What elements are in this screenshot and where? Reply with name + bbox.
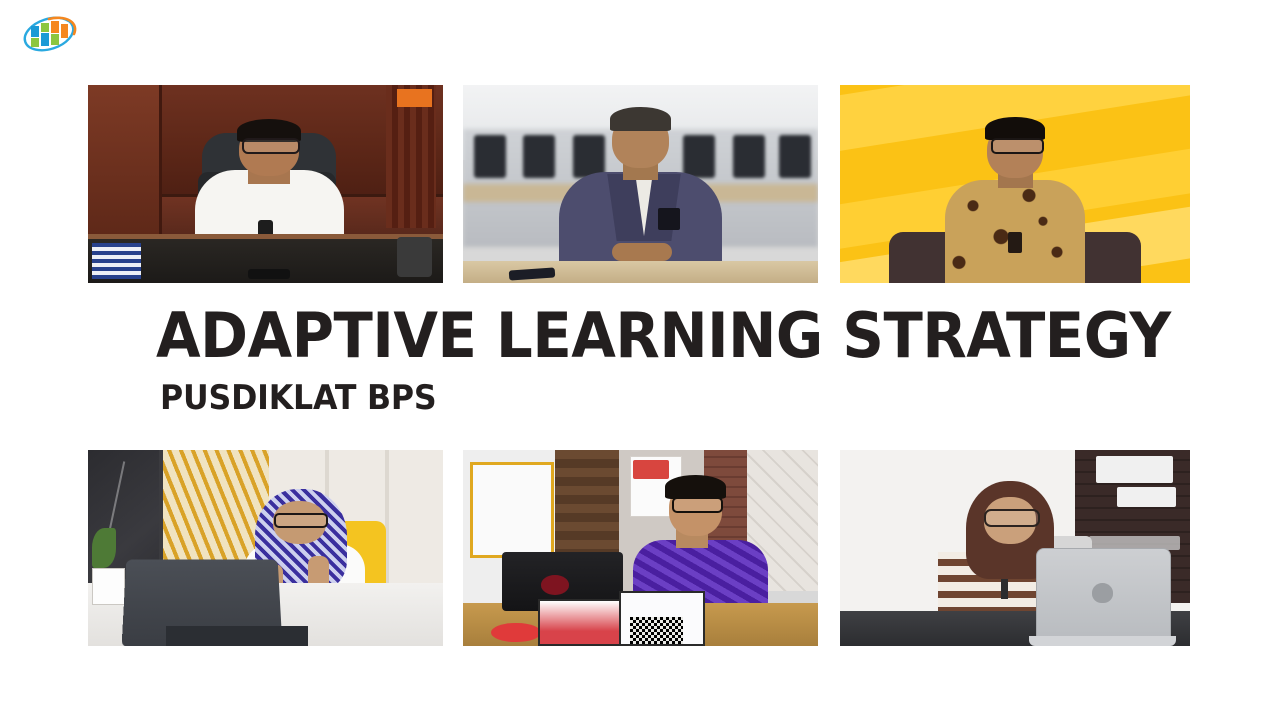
slide-root: { "slide": { "background_color": "#fffff… — [0, 0, 1280, 720]
eyeglasses-icon — [242, 138, 299, 154]
monitor — [779, 135, 811, 179]
pen-holder — [397, 237, 433, 277]
thumbnail-bottom-center[interactable]: Woman in purple batik at service desk wi… — [463, 450, 818, 646]
document-stack — [92, 243, 142, 279]
thumbnail-top-right[interactable]: Man in batik shirt seated on dark sofa a… — [840, 85, 1190, 283]
monitor — [683, 135, 715, 179]
scene-office-hijab — [88, 450, 443, 646]
scene-yellow-backdrop — [840, 85, 1190, 283]
smartphone — [248, 269, 291, 279]
wall-panel-left — [88, 85, 162, 239]
eyeglasses-icon — [672, 497, 722, 513]
person-hair-front — [665, 475, 725, 499]
person-hair — [610, 107, 670, 131]
title-block: ADAPTIVE LEARNING STRATEGY PUSDIKLAT BPS — [156, 306, 1156, 415]
poster-graphic — [633, 460, 669, 480]
scene-service-desk — [463, 450, 818, 646]
scene-classroom — [463, 85, 818, 283]
thumbnail-bottom-left[interactable]: Woman in purple patterned hijab and whit… — [88, 450, 443, 646]
whiteboard — [470, 462, 554, 558]
eyeglasses-icon — [274, 513, 328, 529]
thumbnail-bottom-right[interactable]: Woman in brown hijab and plaid shirt wit… — [840, 450, 1190, 646]
clasped-hands — [612, 243, 672, 261]
eyeglasses-icon — [984, 509, 1041, 527]
scene-white-wall-macbook — [840, 450, 1190, 646]
bps-logo — [18, 10, 80, 58]
page-subtitle: PUSDIKLAT BPS — [160, 381, 1086, 415]
desk-calendar — [92, 568, 126, 605]
eyeglasses-icon — [991, 138, 1044, 154]
laptop-keyboard — [166, 626, 308, 646]
info-sign-red — [538, 599, 627, 646]
clip-microphone — [1008, 232, 1022, 254]
wall-sign — [397, 89, 433, 107]
person-hair — [985, 117, 1045, 141]
qr-code-icon — [630, 617, 683, 644]
monitor — [474, 135, 506, 179]
red-tray — [491, 623, 541, 643]
thumbnail-top-center[interactable]: Man in purple blazer seated at light woo… — [463, 85, 818, 283]
wall-letter-block — [1117, 487, 1177, 507]
plant-decor — [92, 528, 117, 567]
thumbnail-top-left[interactable]: Man in white shirt seated at dark desk i… — [88, 85, 443, 283]
scene-wood-office — [88, 85, 443, 283]
name-badge — [658, 208, 679, 230]
wall-letter-block — [1096, 456, 1173, 483]
monitor — [733, 135, 765, 179]
page-title: ADAPTIVE LEARNING STRATEGY — [156, 306, 1086, 367]
apple-logo-icon — [1092, 583, 1113, 603]
laptop-base — [1029, 636, 1176, 646]
monitor — [523, 135, 555, 179]
